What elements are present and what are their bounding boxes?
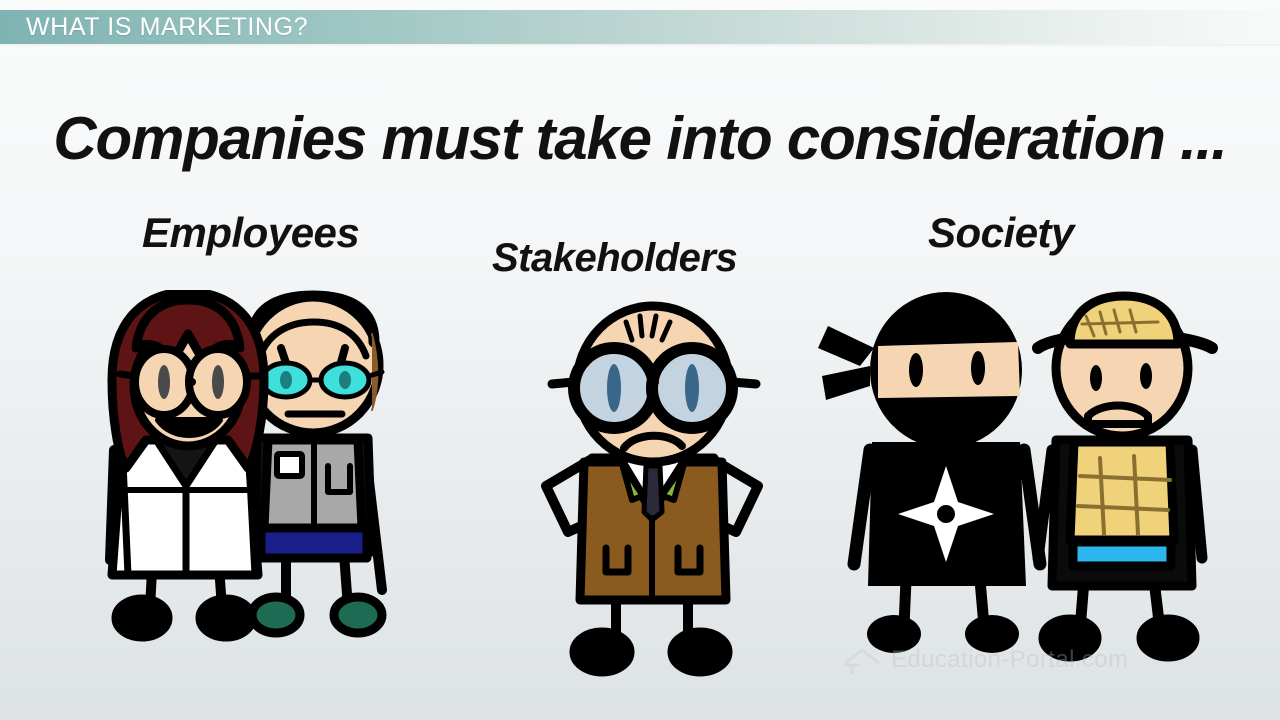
ninja-shoe-right: [965, 615, 1019, 653]
illustration-stage: [0, 0, 1280, 720]
society-illustration: [812, 290, 1252, 680]
farmer-eye-left: [1090, 365, 1102, 391]
figure-farmer: [1038, 296, 1212, 657]
farmer-eye-right: [1140, 363, 1152, 389]
male-shoe-right: [334, 597, 382, 633]
female-shoe-left: [116, 599, 168, 637]
stakeholder-tie: [644, 466, 662, 520]
ninja-headband-tail-upper: [818, 326, 874, 366]
figure-female-scientist: [110, 292, 264, 637]
male-name-badge: [277, 454, 302, 476]
figure-group-stakeholders: [528, 300, 783, 680]
stakeholder-shoe-right: [672, 632, 728, 672]
ninja-eye-right: [971, 351, 985, 385]
farmer-shoe-right: [1141, 619, 1195, 657]
stakeholder-illustration: [528, 300, 783, 680]
figure-ninja: [818, 292, 1040, 653]
figure-group-society: [812, 290, 1252, 680]
ninja-shoe-left: [867, 615, 921, 653]
ninja-eye-band: [878, 342, 1020, 398]
ninja-headband-tail-lower: [822, 366, 870, 400]
stakeholder-shoe-left: [574, 632, 630, 672]
male-shoe-left: [252, 597, 300, 633]
ninja-eye-left: [909, 353, 923, 387]
farmer-shirt: [1070, 442, 1174, 540]
farmer-mouth: [1088, 406, 1148, 425]
farmer-shoe-left: [1043, 619, 1097, 657]
employees-illustration: [100, 290, 410, 665]
farmer-belt: [1073, 542, 1171, 566]
female-shoe-right: [200, 599, 252, 637]
figure-group-employees: [100, 290, 410, 665]
